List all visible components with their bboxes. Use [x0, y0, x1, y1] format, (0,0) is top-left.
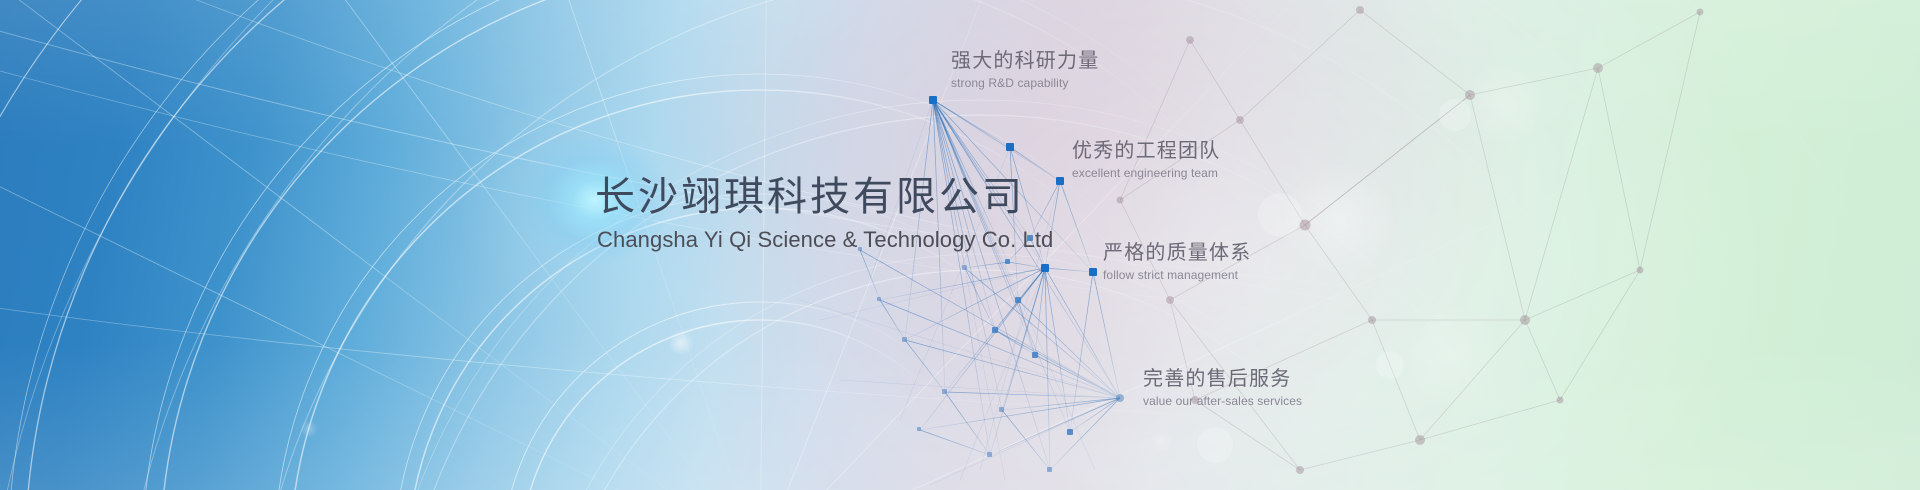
mint-orb-2 — [1460, 60, 1550, 150]
feature-label-cn-2: 严格的质量体系 — [1103, 240, 1251, 265]
feature-item-rd: 强大的科研力量 strong R&D capability — [951, 48, 1099, 90]
feature-label-en-0: strong R&D capability — [951, 76, 1099, 90]
feature-item-quality: 严格的质量体系 follow strict management — [1103, 240, 1251, 282]
feature-label-en-3: value our after-sales services — [1143, 394, 1302, 408]
feature-label-en-2: follow strict management — [1103, 268, 1251, 282]
lens-flare-dot-2 — [300, 420, 318, 438]
lens-flare-dot-3 — [1150, 430, 1172, 452]
feature-item-after-sales: 完善的售后服务 value our after-sales services — [1143, 366, 1302, 408]
company-name-en: Changsha Yi Qi Science & Technology Co. … — [597, 227, 1155, 253]
company-hero-banner: 长沙翊琪科技有限公司 Changsha Yi Qi Science & Tech… — [0, 0, 1920, 490]
feature-label-cn-3: 完善的售后服务 — [1143, 366, 1302, 391]
feature-label-en-1: excellent engineering team — [1072, 166, 1220, 180]
feature-label-cn-1: 优秀的工程团队 — [1072, 138, 1220, 163]
lens-flare-dot-1 — [668, 330, 694, 356]
mint-orb-1 — [1280, 160, 1400, 280]
company-name-cn: 长沙翊琪科技有限公司 — [595, 174, 1155, 221]
mint-orb-3 — [1395, 300, 1505, 410]
feature-label-cn-0: 强大的科研力量 — [951, 48, 1099, 73]
feature-item-engineering: 优秀的工程团队 excellent engineering team — [1072, 138, 1220, 180]
company-headline: 长沙翊琪科技有限公司 Changsha Yi Qi Science & Tech… — [595, 174, 1155, 253]
